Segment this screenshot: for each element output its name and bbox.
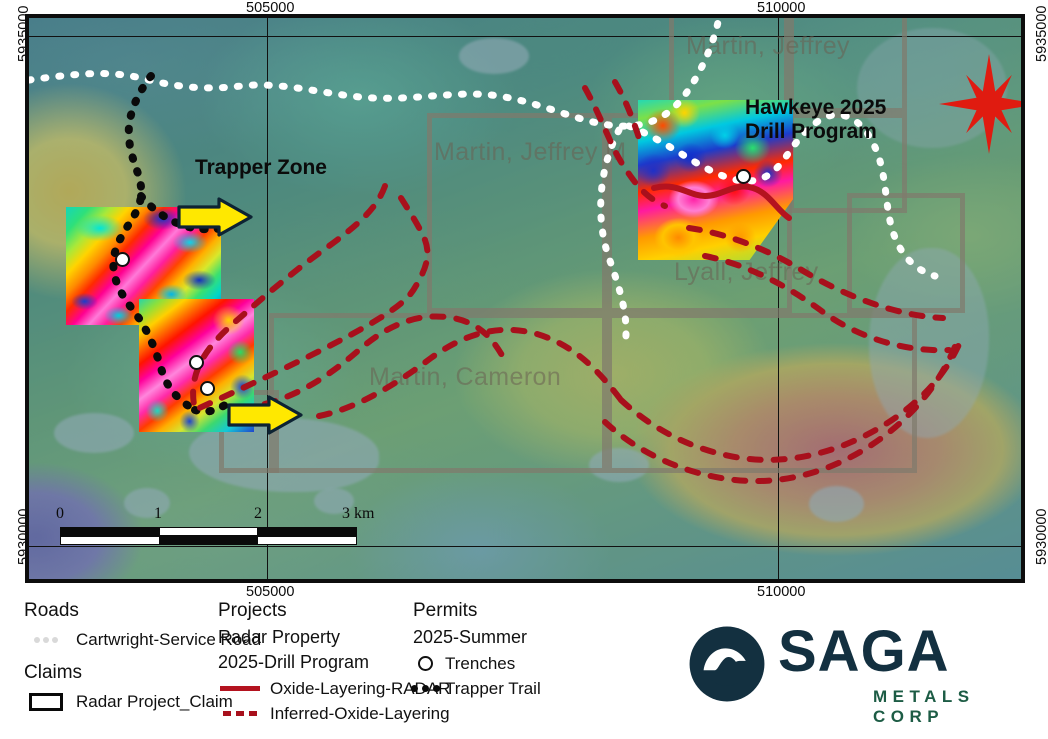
legend-item-inferred-oxide[interactable]: Inferred-Oxide-Layering — [218, 701, 450, 726]
legend-label-trenches: Trenches — [445, 654, 515, 674]
scale-label-3: 3 km — [342, 505, 374, 523]
legend-label-radar-claim: Radar Project_Claim — [76, 692, 233, 712]
trapper-zone-annotation: Trapper Zone — [195, 156, 327, 180]
trench-marker[interactable] — [736, 169, 751, 184]
compass-star-icon — [937, 52, 1021, 161]
trench-marker[interactable] — [200, 381, 215, 396]
callout-arrow-trapper-upper — [175, 196, 255, 243]
claim-rectangle-icon — [24, 693, 68, 711]
axis-label-bottom-510000: 510000 — [757, 584, 805, 600]
legend-header-permits: Permits — [413, 600, 541, 622]
saga-tagline: METALS CORP — [873, 687, 1028, 727]
legend-item-trenches[interactable]: Trenches — [413, 651, 541, 676]
map-figure: 505000 510000 505000 510000 5935000 5930… — [0, 0, 1048, 598]
trapper-trail — [113, 76, 229, 412]
hawkeye-annotation-line1: Hawkeye 2025 — [745, 96, 886, 120]
axis-label-right-5935000: 5935000 — [1034, 6, 1048, 62]
saga-metals-logo: SAGA METALS CORP — [688, 615, 1028, 725]
hawkeye-annotation: Hawkeye 2025 Drill Program — [745, 96, 886, 144]
legend-column-permits: Permits 2025-Summer Trenches Trapper Tra… — [413, 600, 541, 701]
open-circle-icon — [413, 655, 437, 673]
scale-label-2: 2 — [254, 505, 262, 523]
oxide-layering-radar — [654, 187, 789, 218]
saga-wordmark: SAGA — [778, 623, 950, 681]
legend-item-trapper-trail[interactable]: Trapper Trail — [413, 676, 541, 701]
axis-label-right-5930000: 5930000 — [1034, 509, 1048, 565]
hawkeye-annotation-line2: Drill Program — [745, 120, 886, 144]
dashed-red-line-icon — [218, 705, 262, 723]
trench-marker[interactable] — [115, 252, 130, 267]
scale-bar-row-top — [60, 527, 357, 536]
scale-label-0: 0 — [56, 505, 64, 523]
trench-marker[interactable] — [189, 355, 204, 370]
scale-bar-row-bottom — [60, 536, 357, 545]
legend: Roads Cartwright-Service Road Claims Rad… — [0, 600, 660, 739]
callout-arrow-trapper-lower — [225, 394, 305, 441]
legend-subheader-summer: 2025-Summer — [413, 627, 541, 648]
saga-circle-mark-icon — [688, 625, 766, 703]
legend-label-inferred-oxide: Inferred-Oxide-Layering — [270, 704, 450, 724]
dotted-white-line-icon — [24, 631, 68, 649]
map-frame[interactable]: Martin, Jeffrey Martin, Jeffrey M Martin… — [25, 14, 1025, 583]
scale-label-1: 1 — [154, 505, 162, 523]
scale-bar-labels: 0 1 2 3 km — [48, 505, 388, 525]
map-canvas[interactable]: Martin, Jeffrey Martin, Jeffrey M Martin… — [29, 18, 1021, 579]
dotted-black-line-icon — [413, 680, 437, 698]
scale-bar — [60, 527, 357, 545]
legend-label-trapper-trail: Trapper Trail — [445, 679, 541, 699]
axis-label-bottom-505000: 505000 — [246, 584, 294, 600]
solid-red-line-icon — [218, 680, 262, 698]
